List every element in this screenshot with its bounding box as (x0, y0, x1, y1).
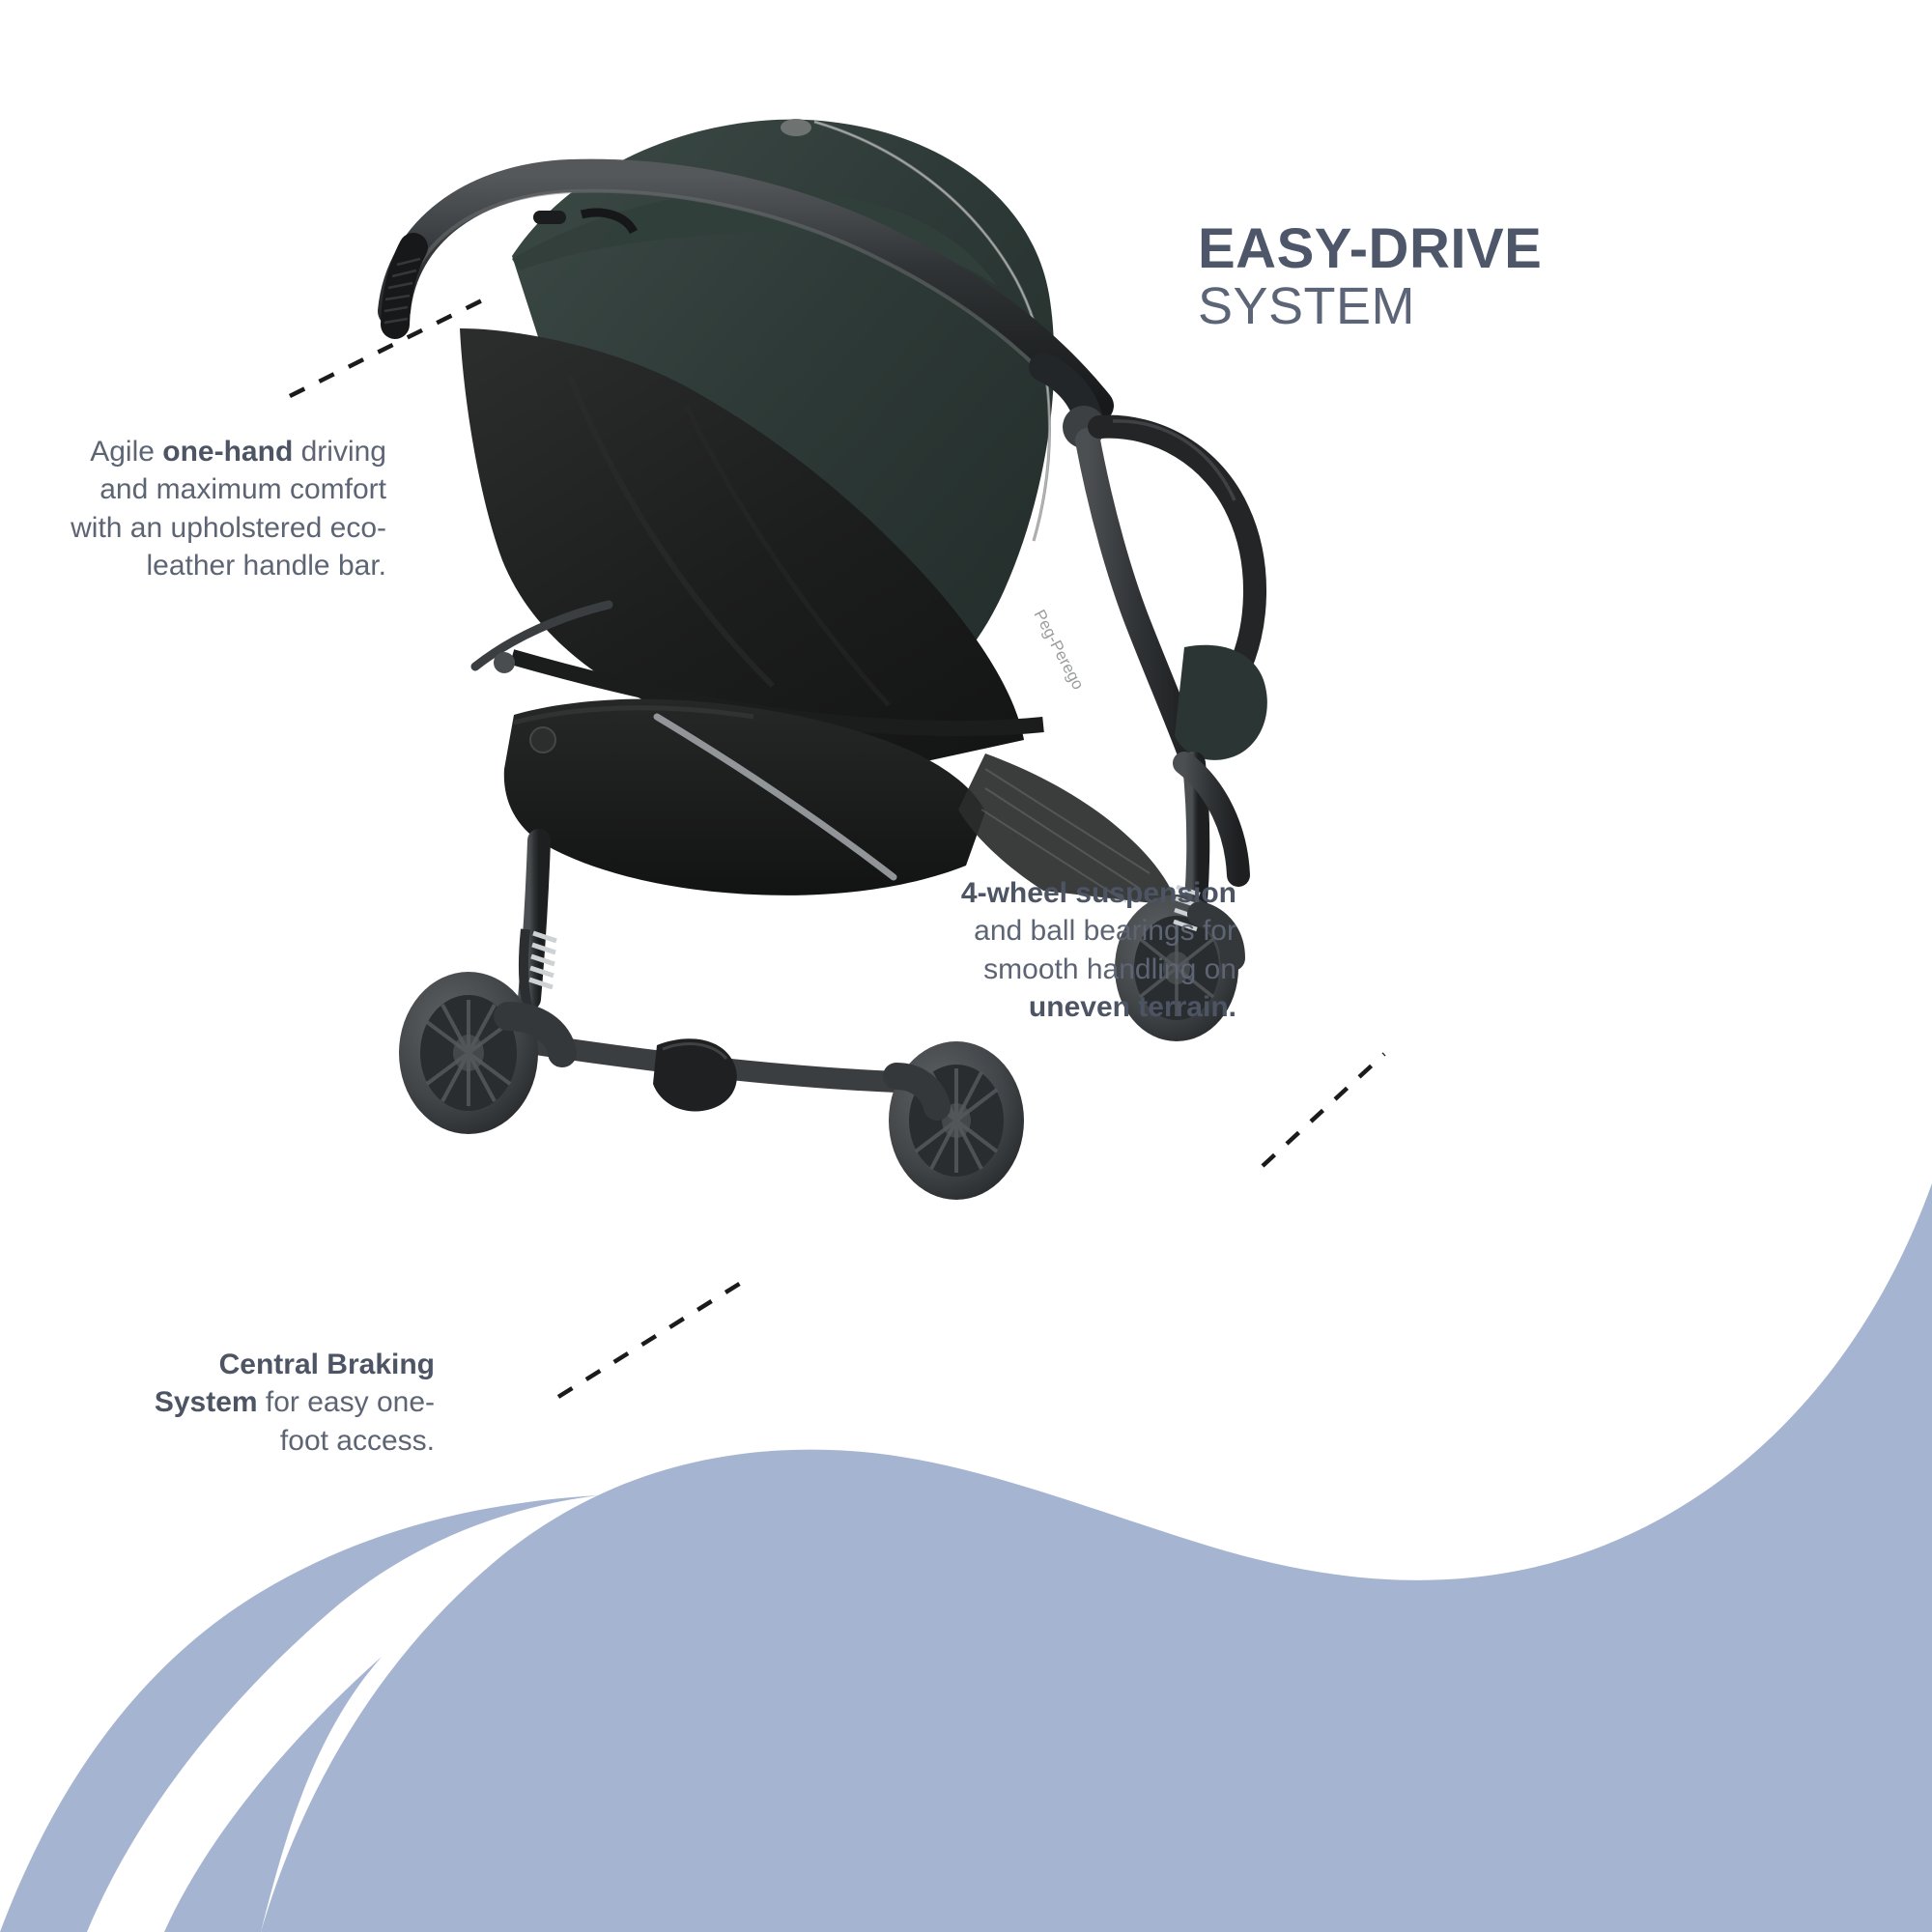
page-title-line-1: EASY-DRIVE (1198, 220, 1797, 277)
product-feature-poster: Peg-Perego EASY-DRIVE SYSTEM Agile one-h… (0, 0, 1932, 1932)
page-title-line-2: SYSTEM (1198, 277, 1797, 335)
callout-brake: Central Braking System for easy one-foot… (145, 1346, 435, 1460)
callout-suspension-text-c: and ball bearings for smooth handling on (974, 915, 1236, 984)
callout-suspension: 4-wheel suspension and ball bearings for… (947, 874, 1236, 1026)
stroller-vector: Peg-Perego (367, 87, 1285, 1343)
front-left-leg (529, 840, 539, 999)
front-wheel-left (399, 972, 538, 1134)
stroller-illustration: Peg-Perego (367, 87, 1285, 1343)
recline-knob[interactable] (494, 652, 515, 673)
brand-emboss: Peg-Perego (1030, 607, 1087, 693)
rear-frame-tube (1088, 440, 1190, 753)
callout-handlebar-text-b: one-hand (162, 436, 293, 468)
callout-brake-text-c: for easy one-foot access. (258, 1386, 435, 1456)
central-brake-pedal[interactable] (653, 1038, 737, 1111)
callout-handlebar: Agile one-hand driving and maximum comfo… (58, 433, 386, 584)
callout-suspension-text-b: 4-wheel suspension (961, 877, 1236, 909)
fold-release-button[interactable] (533, 211, 566, 224)
callout-suspension-text-d: uneven terrain. (1029, 991, 1236, 1023)
page-title: EASY-DRIVE SYSTEM (1198, 220, 1797, 336)
callout-handlebar-text-a: Agile (90, 436, 162, 468)
basket-grommet (530, 727, 555, 753)
zipper-pull (781, 119, 811, 136)
